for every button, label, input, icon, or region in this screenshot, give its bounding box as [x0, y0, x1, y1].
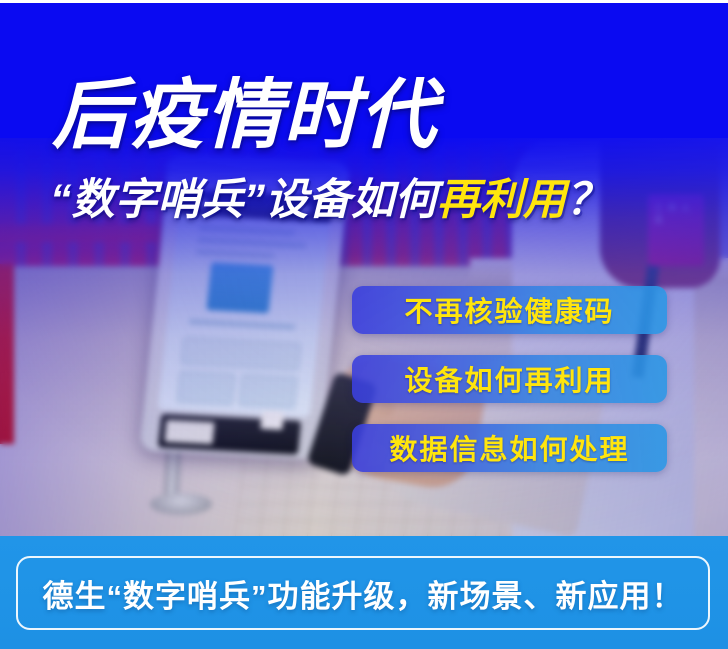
- feature-badge-list: 不再核验健康码 设备如何再利用 数据信息如何处理: [352, 286, 667, 493]
- page-title: 后疫情时代: [52, 78, 437, 154]
- page-subtitle: “数字哨兵”设备如何再利用？: [50, 176, 609, 224]
- footer-banner-frame: 德生“数字哨兵”功能升级，新场景、新应用！: [16, 556, 710, 630]
- subtitle-highlight: 再利用: [437, 176, 566, 224]
- top-white-strip: [0, 0, 728, 3]
- footer-banner-text: 德生“数字哨兵”功能升级，新场景、新应用！: [43, 571, 684, 616]
- feature-badge-1-label: 不再核验健康码: [404, 290, 614, 330]
- feature-badge-2[interactable]: 设备如何再利用: [352, 355, 667, 403]
- subtitle-suffix: ？: [566, 176, 609, 224]
- feature-badge-2-label: 设备如何再利用: [404, 359, 614, 399]
- feature-badge-1[interactable]: 不再核验健康码: [352, 286, 667, 334]
- footer-banner: 德生“数字哨兵”功能升级，新场景、新应用！: [0, 536, 728, 649]
- subtitle-prefix: “数字哨兵”设备如何: [50, 176, 437, 224]
- feature-badge-3[interactable]: 数据信息如何处理: [352, 424, 667, 472]
- feature-badge-3-label: 数据信息如何处理: [389, 428, 629, 468]
- poster-canvas: 工 作 人 员 后疫情时代 “数字哨兵”设备如何再利用？ 不再核验健康码 设备如…: [0, 0, 728, 649]
